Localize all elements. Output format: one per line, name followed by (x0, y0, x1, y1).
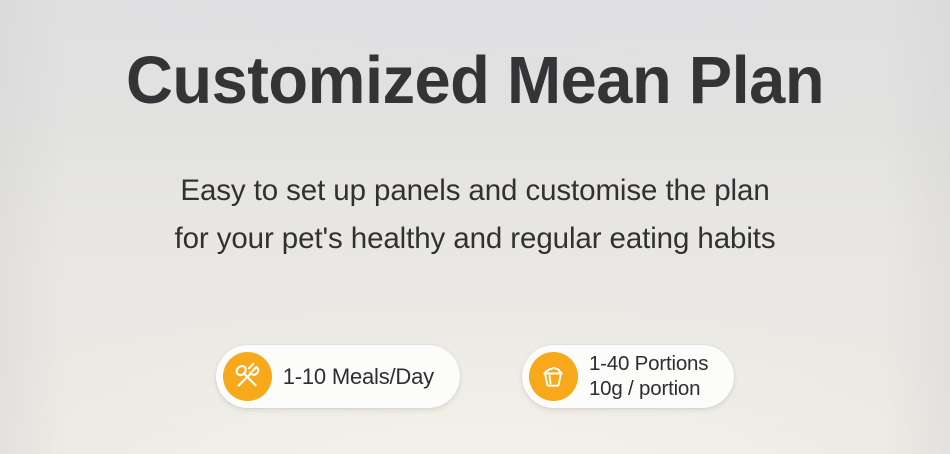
badge-portions-label: 1-40 Portions 10g / portion (589, 352, 708, 401)
badge-portions: 1-40 Portions 10g / portion (522, 345, 734, 408)
promo-banner: Customized Mean Plan Easy to set up pane… (0, 0, 950, 454)
cutlery-icon (223, 352, 272, 401)
subtitle: Easy to set up panels and customise the … (0, 167, 950, 263)
badge-meals-per-day: 1-10 Meals/Day (216, 345, 460, 408)
badge-portions-line-2: 10g / portion (589, 377, 708, 402)
badge-meals-line-1: 1-10 Meals/Day (283, 365, 434, 389)
badge-meals-label: 1-10 Meals/Day (283, 365, 434, 389)
banner-content: Customized Mean Plan Easy to set up pane… (0, 0, 950, 454)
subtitle-line-2: for your pet's healthy and regular eatin… (0, 215, 950, 263)
pet-food-bowl-icon (529, 352, 578, 401)
badge-portions-line-1: 1-40 Portions (589, 352, 708, 377)
badge-row: 1-10 Meals/Day (0, 345, 950, 408)
page-title: Customized Mean Plan (14, 47, 936, 114)
subtitle-line-1: Easy to set up panels and customise the … (0, 167, 950, 215)
